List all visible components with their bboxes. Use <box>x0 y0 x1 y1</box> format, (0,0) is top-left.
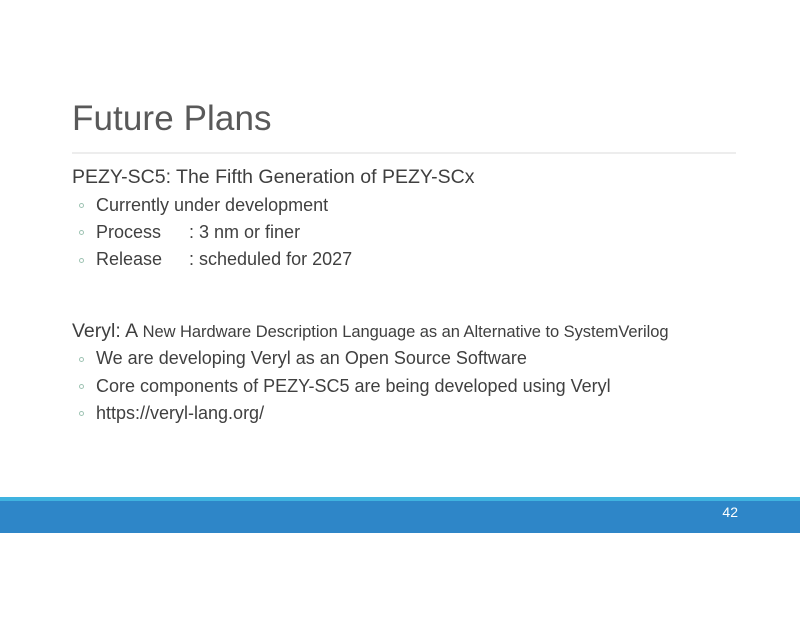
page-number: 42 <box>0 505 800 519</box>
section-veryl: Veryl: A New Hardware Description Langua… <box>72 318 772 428</box>
slide: Future Plans PEZY-SC5: The Fifth Generat… <box>0 0 800 618</box>
section-heading-rest: New Hardware Description Language as an … <box>138 323 668 341</box>
slide-body: PEZY-SC5: The Fifth Generation of PEZY-S… <box>72 164 772 428</box>
hollow-circle-icon <box>79 230 84 235</box>
list-item-label: Release <box>96 246 184 273</box>
list-item-text: Currently under development <box>96 195 328 215</box>
footer-bar-top-edge <box>0 497 800 501</box>
section-heading: Veryl: A New Hardware Description Langua… <box>72 318 772 346</box>
list-item-text: Core components of PEZY-SC5 are being de… <box>96 376 611 396</box>
title-divider <box>72 152 736 154</box>
list-item-text: https://veryl-lang.org/ <box>96 403 264 423</box>
list-item: Core components of PEZY-SC5 are being de… <box>72 373 772 400</box>
bullet-list-pezy-sc5: Currently under development Process : 3 … <box>72 192 772 274</box>
list-item: We are developing Veryl as an Open Sourc… <box>72 345 772 372</box>
list-item: Release : scheduled for 2027 <box>72 246 772 273</box>
list-item-value: : 3 nm or finer <box>189 219 300 246</box>
bullet-list-veryl: We are developing Veryl as an Open Sourc… <box>72 345 772 427</box>
list-item-text: We are developing Veryl as an Open Sourc… <box>96 348 527 368</box>
list-item-value: : scheduled for 2027 <box>189 246 352 273</box>
hollow-circle-icon <box>79 258 84 263</box>
list-item: Currently under development <box>72 192 772 219</box>
hollow-circle-icon <box>79 411 84 416</box>
hollow-circle-icon <box>79 357 84 362</box>
page-title: Future Plans <box>72 100 272 139</box>
list-item: Process : 3 nm or finer <box>72 219 772 246</box>
section-heading-lead: Veryl: A <box>72 320 138 342</box>
list-item: https://veryl-lang.org/ <box>72 400 772 427</box>
section-spacer <box>72 274 772 318</box>
hollow-circle-icon <box>79 384 84 389</box>
hollow-circle-icon <box>79 203 84 208</box>
section-heading: PEZY-SC5: The Fifth Generation of PEZY-S… <box>72 164 772 192</box>
list-item-label: Process <box>96 219 184 246</box>
footer-bar: 42 <box>0 497 800 533</box>
section-pezy-sc5: PEZY-SC5: The Fifth Generation of PEZY-S… <box>72 164 772 274</box>
